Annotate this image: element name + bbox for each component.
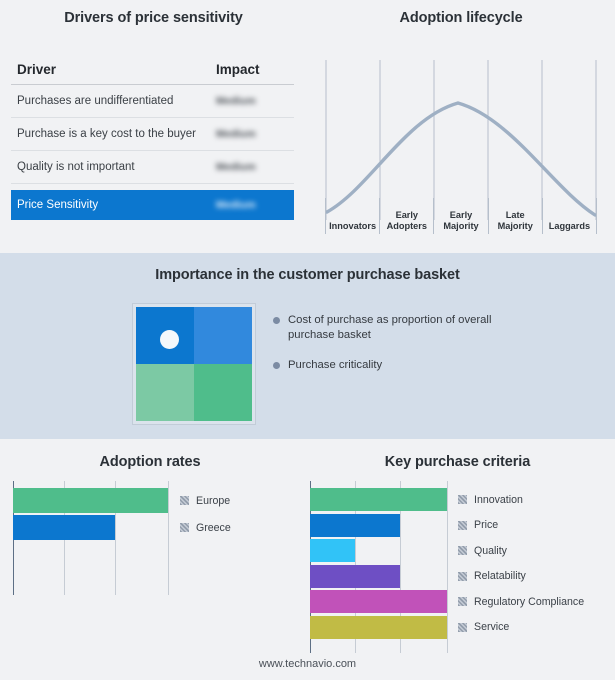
legend-swatch-icon (458, 623, 467, 632)
bar-row[interactable] (13, 488, 168, 513)
bar-row[interactable] (310, 488, 447, 511)
legend-swatch-icon (180, 523, 189, 532)
lifecycle-stage-laggards: Laggards (542, 198, 597, 234)
cell-driver: Purchase is a key cost to the buyer (17, 128, 216, 140)
bar-service[interactable] (310, 616, 447, 639)
bar-europe[interactable] (13, 488, 168, 513)
cell-impact: Medium (216, 161, 288, 173)
bar-row[interactable] (13, 515, 168, 540)
lifecycle-stage-labels: Innovators Early Adopters Early Majority… (325, 198, 597, 234)
bar-row[interactable] (310, 539, 447, 562)
stage-line2: Innovators (326, 221, 379, 232)
lifecycle-stage-early-majority: Early Majority (433, 198, 487, 234)
stage-line2: Majority (434, 221, 487, 232)
stage-line2: Adopters (380, 221, 433, 232)
column-header-driver: Driver (17, 62, 216, 77)
legend-label: Europe (196, 495, 230, 507)
legend-item[interactable]: Innovation (458, 487, 584, 513)
bullet-icon (273, 317, 280, 324)
table-row[interactable]: Quality is not important Medium (11, 151, 294, 184)
bar-quality[interactable] (310, 539, 355, 562)
key-purchase-criteria-plot (310, 481, 447, 653)
footer-url: www.technavio.com (0, 658, 615, 670)
legend-item[interactable]: Service (458, 615, 584, 641)
lifecycle-stage-late-majority: Late Majority (488, 198, 542, 234)
criteria-legend: InnovationPriceQualityRelatabilityRegula… (458, 487, 584, 640)
legend-swatch-icon (180, 496, 189, 505)
table-row-highlighted[interactable]: Price Sensitivity Medium (11, 190, 294, 220)
lifecycle-title: Adoption lifecycle (307, 10, 615, 26)
table-header-row: Driver Impact (11, 62, 294, 85)
legend-item[interactable]: Greece (180, 514, 231, 541)
legend-item[interactable]: Regulatory Compliance (458, 589, 584, 615)
adoption-lifecycle-curve (325, 60, 597, 220)
bullet-icon (273, 362, 280, 369)
legend-swatch-icon (458, 572, 467, 581)
adoption-rates-bars (13, 488, 168, 542)
basket-title: Importance in the customer purchase bask… (0, 267, 615, 283)
stage-line2: Laggards (543, 221, 596, 232)
stage-line1: Early (380, 210, 433, 221)
list-item: Cost of purchase as proportion of overal… (273, 313, 593, 342)
cell-impact: Medium (216, 199, 288, 211)
legend-label: Greece (196, 522, 231, 534)
impact-value-obscured: Medium (216, 161, 256, 173)
bar-relatability[interactable] (310, 565, 400, 588)
gridline (168, 481, 169, 595)
stage-line2: Majority (489, 221, 542, 232)
legend-item[interactable]: Price (458, 513, 584, 539)
legend-label: Innovation (474, 494, 523, 506)
legend-label: Relatability (474, 570, 526, 582)
lifecycle-stage-innovators: Innovators (325, 198, 379, 234)
stage-line1: Late (489, 210, 542, 221)
adoption-rates-panel: Adoption rates EuropeGreece (0, 439, 300, 680)
bar-row[interactable] (310, 590, 447, 613)
cell-driver: Price Sensitivity (17, 199, 216, 211)
purchase-basket-matrix (136, 307, 252, 421)
impact-value-obscured: Medium (216, 199, 256, 211)
legend-swatch-icon (458, 521, 467, 530)
key-purchase-criteria-panel: Key purchase criteria InnovationPriceQua… (300, 439, 615, 680)
legend-label: Quality (474, 545, 507, 557)
list-item: Purchase criticality (273, 358, 593, 373)
adoption-rates-plot (13, 481, 168, 595)
cell-driver: Purchases are undifferentiated (17, 95, 216, 107)
legend-label: Service (474, 621, 509, 633)
matrix-quadrant-bottom-left[interactable] (136, 364, 194, 421)
purchase-basket-matrix-frame (132, 303, 256, 425)
bar-row[interactable] (310, 616, 447, 639)
adoption-rates-title: Adoption rates (0, 454, 300, 470)
purchase-basket-panel: Importance in the customer purchase bask… (0, 253, 615, 439)
lifecycle-stage-early-adopters: Early Adopters (379, 198, 433, 234)
impact-value-obscured: Medium (216, 95, 256, 107)
cell-driver: Quality is not important (17, 161, 216, 173)
stage-line1: Early (434, 210, 487, 221)
legend-label: Purchase criticality (288, 358, 382, 373)
matrix-quadrant-top-right[interactable] (194, 307, 252, 364)
bar-greece[interactable] (13, 515, 115, 540)
bar-price[interactable] (310, 514, 400, 537)
legend-item[interactable]: Quality (458, 538, 584, 564)
legend-item[interactable]: Europe (180, 487, 231, 514)
cell-impact: Medium (216, 128, 288, 140)
drivers-title: Drivers of price sensitivity (0, 10, 307, 26)
legend-swatch-icon (458, 597, 467, 606)
column-header-impact: Impact (216, 62, 288, 77)
legend-swatch-icon (458, 546, 467, 555)
drivers-table: Driver Impact Purchases are undifferenti… (11, 62, 294, 220)
table-row[interactable]: Purchases are undifferentiated Medium (11, 85, 294, 118)
cell-impact: Medium (216, 95, 288, 107)
table-row[interactable]: Purchase is a key cost to the buyer Medi… (11, 118, 294, 151)
legend-swatch-icon (458, 495, 467, 504)
adoption-rates-legend: EuropeGreece (180, 487, 231, 541)
bar-row[interactable] (310, 565, 447, 588)
impact-value-obscured: Medium (216, 128, 256, 140)
bar-row[interactable] (310, 514, 447, 537)
criteria-bars (310, 488, 447, 641)
drivers-of-price-sensitivity-panel: Drivers of price sensitivity Driver Impa… (0, 0, 307, 253)
key-purchase-criteria-title: Key purchase criteria (300, 454, 615, 470)
bar-innovation[interactable] (310, 488, 447, 511)
bar-regulatory-compliance[interactable] (310, 590, 447, 613)
legend-item[interactable]: Relatability (458, 564, 584, 590)
legend-label: Cost of purchase as proportion of overal… (288, 313, 518, 342)
legend-label: Regulatory Compliance (474, 596, 584, 608)
adoption-lifecycle-panel: Adoption lifecycle Innovators Early Adop… (307, 0, 615, 253)
basket-legend: Cost of purchase as proportion of overal… (273, 313, 593, 389)
gridline (447, 481, 448, 653)
legend-label: Price (474, 519, 498, 531)
matrix-quadrant-bottom-right[interactable] (194, 364, 252, 421)
